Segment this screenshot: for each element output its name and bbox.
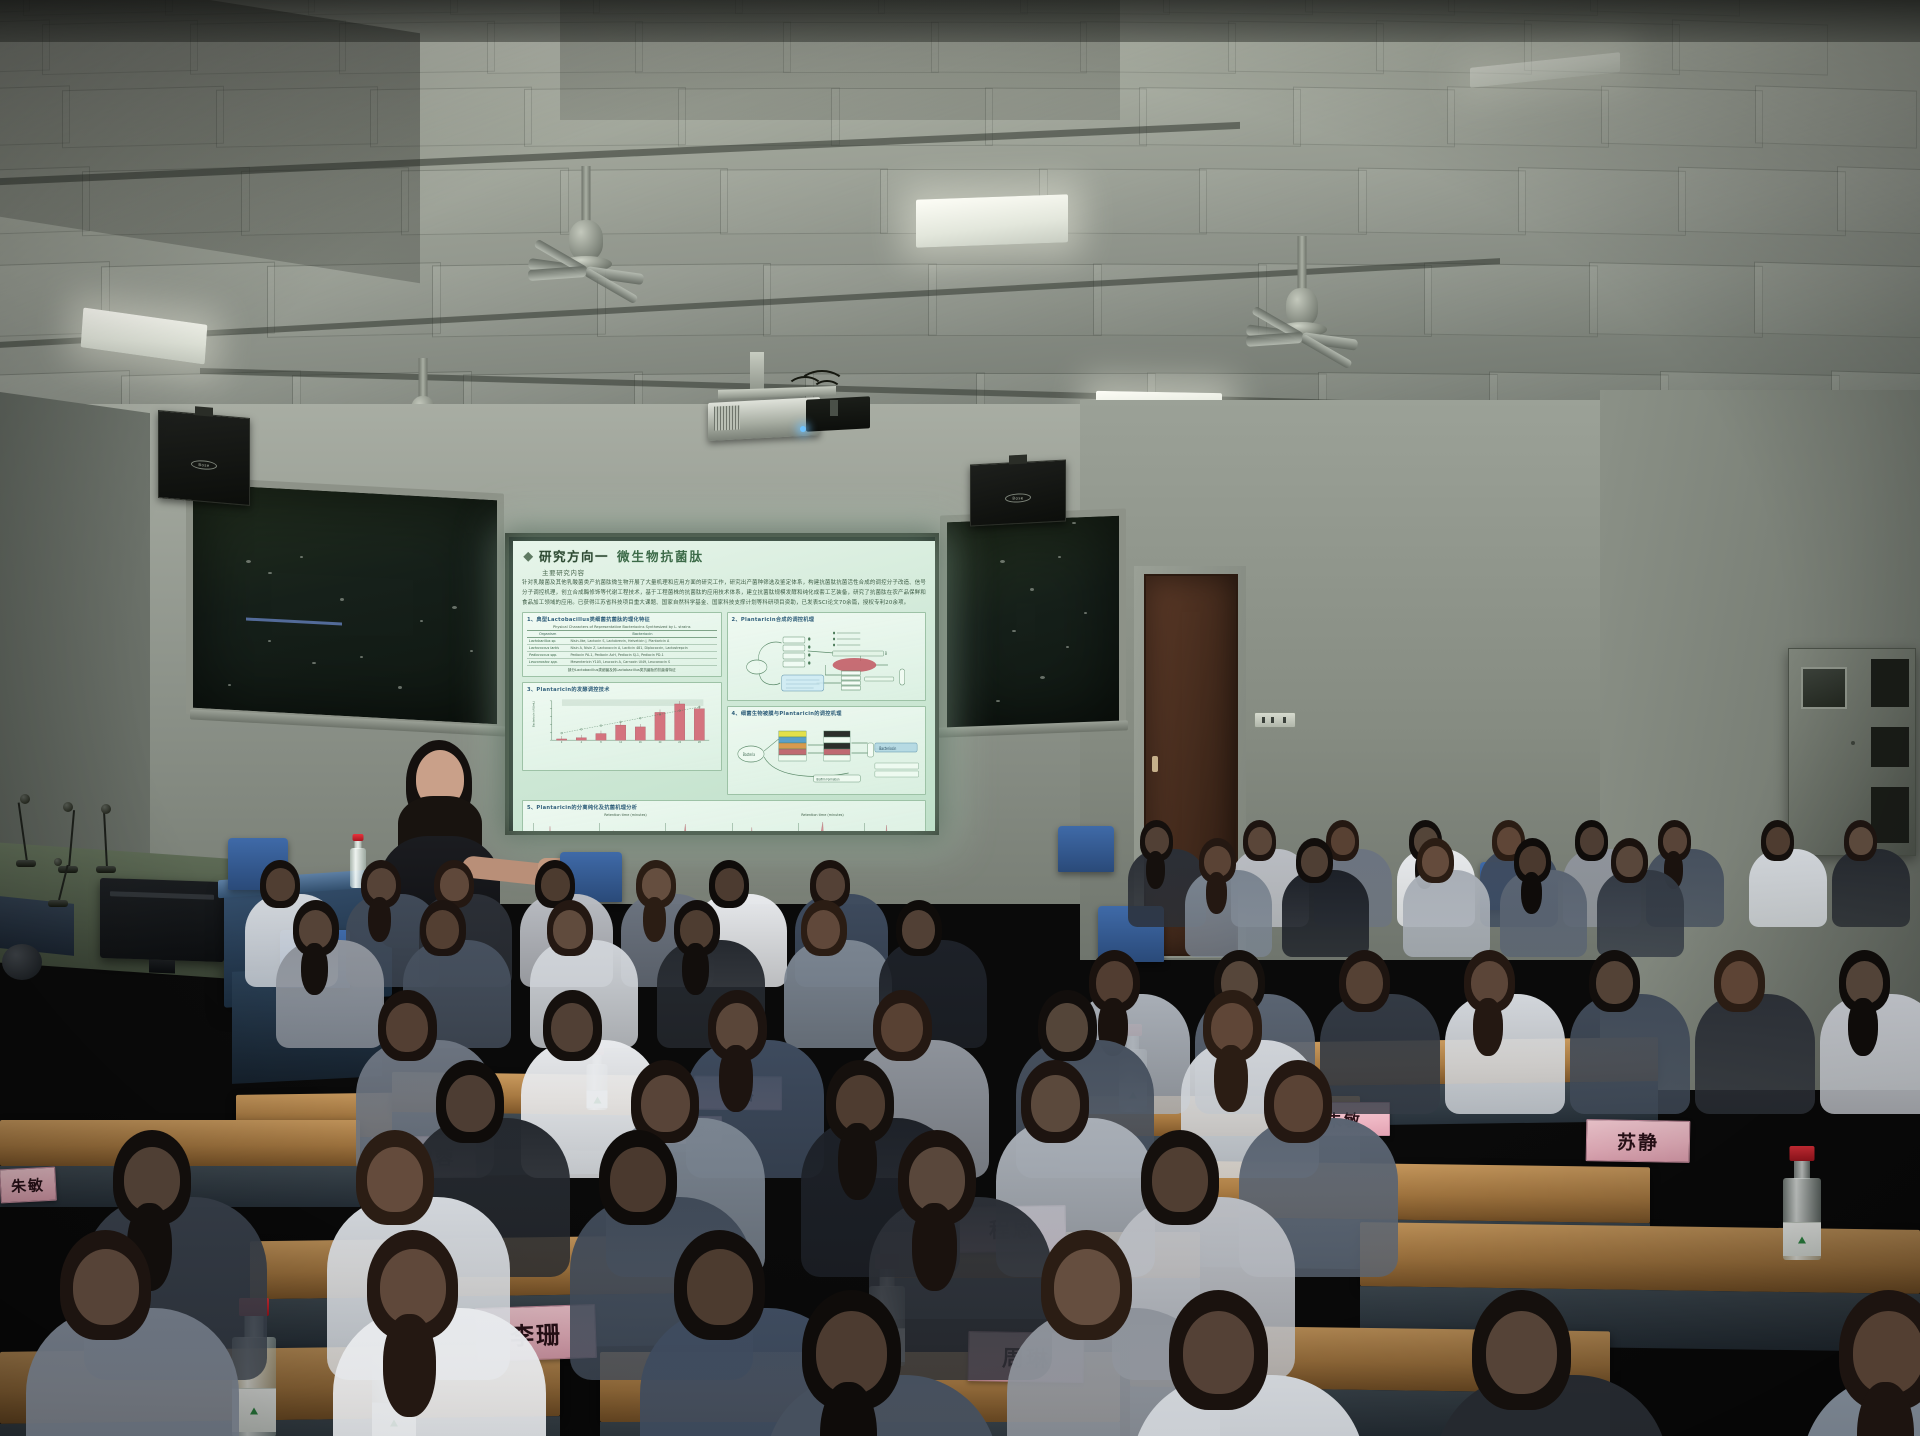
audience-head [1616, 846, 1643, 877]
audience-ponytail [1848, 998, 1878, 1056]
audience-torso [276, 940, 384, 1048]
student-desk [1360, 1222, 1920, 1294]
speaker-bracket-left [195, 406, 213, 417]
audience-head [1152, 1147, 1208, 1212]
audience-head [807, 910, 840, 949]
ceiling-tile [1589, 262, 1763, 338]
bar [675, 704, 685, 740]
bar [557, 739, 567, 740]
svg-text:28: 28 [698, 741, 701, 744]
chalk-mark [1084, 612, 1087, 614]
audience-head [440, 868, 469, 901]
chalk-mark [300, 556, 303, 558]
cell-organism: Leuconostoc spp. [527, 659, 568, 666]
chromatogram-3: mAU Time [659, 817, 722, 831]
audience-head [1422, 846, 1449, 877]
chalk-mark [1012, 630, 1016, 632]
audience-torso [1445, 994, 1565, 1114]
audience-member [60, 1230, 273, 1436]
ceiling-tile [928, 264, 1102, 336]
bar [576, 738, 586, 740]
blackboard-left [186, 476, 504, 731]
audience-ponytail [682, 943, 709, 995]
diamond-bullet-icon [523, 552, 533, 562]
audience-head [1046, 1003, 1088, 1052]
chromatogram-2: mAU Time [593, 817, 656, 831]
table-row: Lactococcus lactisNisin A, Nisin Z, Lact… [527, 645, 717, 652]
panel-1-number: 1 [527, 617, 531, 623]
chalk-mark [268, 640, 271, 642]
chalk-mark [1030, 588, 1034, 591]
audience-head [1183, 1311, 1254, 1394]
table-row: Leuconostoc spp.Mesentericin Y105, Leuco… [527, 659, 717, 666]
table-row: Pediococcus spp.Pediocin PA-1, Pediocin … [527, 652, 717, 659]
audience-head [1596, 961, 1633, 1004]
ceiling-tile [1447, 87, 1609, 149]
audience-head [367, 868, 396, 901]
audience-head [1486, 1311, 1557, 1394]
panel-1-caption: Physical Characters of Representative Ba… [527, 625, 717, 630]
audience-head [73, 1249, 139, 1325]
audience-head [386, 1003, 428, 1052]
monitor-stand [149, 960, 175, 974]
panel-2-title: Plantaricin合成的调控机理 [741, 617, 814, 623]
ceiling-light-2 [916, 194, 1068, 247]
svg-text:Bacteria: Bacteria [742, 753, 754, 758]
audience-head [816, 868, 845, 901]
fan-rod [582, 166, 591, 226]
svg-text:24: 24 [678, 741, 681, 744]
chromatogram-4: mAU Time [726, 817, 789, 831]
audience-torso [1570, 994, 1690, 1114]
ceiling-shadow-2 [560, 0, 1120, 120]
presentation-slide: 研究方向一 微生物抗菌肽 主要研究内容 针对乳酸菌及其他乳酸菌类产抗菌肽微生物开… [513, 541, 935, 831]
slide-panel-4: 4、细菌生物被膜与Plantaricin的调控机理 [727, 706, 927, 795]
table-header-row: Organism Bacteriocin [527, 631, 717, 638]
audience-head [1766, 827, 1790, 855]
chalk-mark [996, 700, 1000, 702]
audience-member [1839, 1290, 1920, 1436]
panel-2-heading: 2、Plantaricin合成的调控机理 [732, 616, 922, 623]
audience-torso [1695, 994, 1815, 1114]
chalk-mark [268, 572, 272, 574]
panel-1-note: 部分Lactobacillus类细菌及其Lactobacillus类抗菌肽的抗菌… [527, 668, 717, 673]
projection-screen-frame: 研究方向一 微生物抗菌肽 主要研究内容 针对乳酸菌及其他乳酸菌类产抗菌肽微生物开… [505, 533, 939, 835]
ceiling-tile [720, 168, 888, 234]
svg-text:20: 20 [659, 741, 662, 744]
ceiling-tile [1199, 168, 1367, 235]
projector-power-led [800, 426, 806, 432]
projector-cable-3 [812, 380, 842, 402]
audience-head [715, 868, 744, 901]
audience-head [902, 910, 935, 949]
audience-head [687, 1249, 753, 1325]
slide-panel-1: 1、典型Lactobacillus类细菌抗菌肽的理化特征 Physical Ch… [522, 612, 722, 677]
panel-3-heading: 3、Plantaricin的发酵调控技术 [527, 686, 717, 693]
th-organism: Organism [527, 631, 568, 638]
slide-paragraph: 针对乳酸菌及其他乳酸菌类产抗菌肽微生物开展了大量机理和应用方面的研究工作，研究出… [522, 578, 926, 608]
audience-member [1169, 1290, 1402, 1436]
microphone-4 [48, 856, 70, 912]
chalk-mark [360, 656, 363, 658]
audience-head [1346, 961, 1383, 1004]
audience-ponytail [1214, 1045, 1248, 1112]
bar [596, 734, 606, 741]
chalk-mark [398, 686, 402, 689]
ceiling-tile [1293, 87, 1455, 148]
fan-motor [1286, 288, 1318, 326]
panel-5-heading: 5、Plantaricin的分离纯化及抗菌机理分析 [527, 804, 921, 811]
svg-text:12: 12 [619, 741, 622, 744]
projector-clamp [830, 400, 838, 416]
cell-bacteriocin: Pediocin PA-1, Pediocin AcH, Pediocin SJ… [568, 652, 716, 659]
audience-torso [1500, 870, 1587, 957]
svg-text:Biofilm Formation: Biofilm Formation [816, 777, 839, 782]
bar [635, 727, 645, 740]
audience-member [1761, 820, 1839, 938]
ceiling-tile [1139, 87, 1301, 147]
speaker-brand-badge-left: Bose [191, 459, 217, 470]
audience-member [1839, 950, 1920, 1131]
panel-4-diagram: Bacteria [732, 719, 922, 791]
bar [694, 709, 704, 740]
microphone-1 [16, 790, 38, 870]
slide-title: 研究方向一 [539, 546, 609, 565]
chalk-mark [312, 662, 316, 664]
panel-3-title: Plantaricin的发酵调控技术 [536, 687, 609, 693]
chalk-mark [228, 684, 231, 686]
cabinet-window [1801, 667, 1847, 709]
chalk-mark [1040, 676, 1045, 679]
ceiling-fan-1 [496, 166, 676, 286]
audience-torso [1749, 849, 1827, 927]
audience-torso [1403, 870, 1490, 957]
slide-title-row: 研究方向一 微生物抗菌肽 [520, 546, 928, 565]
fan-rod [1298, 236, 1307, 294]
door-handle [1152, 756, 1158, 772]
chalk-mark [452, 606, 457, 609]
speaker-brand-badge-right: Bose [1005, 493, 1031, 503]
ceiling-tile [1755, 86, 1917, 149]
audience-torso [1832, 849, 1910, 927]
water-bottle-5 [1780, 1146, 1824, 1260]
panel-2-svg: B [732, 625, 922, 697]
cell-bacteriocin: Nisin-like, Lactocin S, Lactobrevin, Hel… [568, 638, 716, 645]
projector-vent [714, 405, 740, 430]
audience-member [1472, 1290, 1705, 1436]
cabinet-slot-2 [1871, 727, 1909, 767]
svg-text:B: B [885, 652, 887, 657]
slide-subtitle: 主要研究内容 [542, 567, 928, 577]
slide-title-secondary: 微生物抗菌肽 [617, 546, 704, 565]
panel-4-heading: 4、细菌生物被膜与Plantaricin的调控机理 [732, 710, 922, 717]
ceiling-tile [1678, 167, 1846, 237]
chalk-mark [246, 560, 251, 563]
panel-1-title: 典型Lactobacillus类细菌抗菌肽的理化特征 [536, 617, 650, 623]
lecture-hall-scene: 研究方向一 微生物抗菌肽 主要研究内容 针对乳酸菌及其他乳酸菌类产抗菌肽微生物开… [0, 0, 1920, 1436]
audience-head [1031, 1075, 1080, 1132]
ceiling-tile [1837, 166, 1920, 237]
audience-ponytail [383, 1314, 436, 1417]
chalk-mark [1066, 646, 1069, 648]
panel-4-number: 4 [732, 711, 736, 717]
panel-5-chromatogram-row: mAU Time mAU Time mAU Time [527, 817, 921, 831]
audience-head [266, 868, 295, 901]
panel-2-number: 2 [732, 617, 736, 623]
audience-ponytail [1206, 872, 1227, 914]
ceiling-tile [1518, 167, 1686, 236]
slide-column-right: 2、Plantaricin合成的调控机理 [727, 612, 927, 795]
monitor-screen-reflection [110, 891, 214, 900]
audience-head [1849, 827, 1873, 855]
table-row: Lactobacillus sp.Nisin-like, Lactocin S,… [527, 638, 717, 645]
audience-head [426, 910, 459, 949]
bar [655, 712, 665, 740]
audience-head [610, 1147, 666, 1212]
speaker-bracket-right [1009, 455, 1027, 465]
ceiling-tile [1754, 261, 1920, 338]
wall-speaker-left: Bose [158, 410, 250, 506]
projection-screen: 研究方向一 微生物抗菌肽 主要研究内容 针对乳酸菌及其他乳酸菌类产抗菌肽微生物开… [513, 541, 935, 831]
chalk-mark [340, 598, 344, 601]
panel-1-table: Physical Characters of Representative Ba… [527, 625, 717, 666]
audience-member [1844, 820, 1920, 938]
audience-head [551, 1003, 593, 1052]
audience-head [1301, 846, 1328, 877]
cell-organism: Lactococcus lactis [527, 645, 568, 652]
svg-text:4: 4 [581, 741, 583, 744]
cabinet-knob [1851, 741, 1855, 745]
panel-4-svg: Bacteria [732, 719, 922, 791]
cell-organism: Pediococcus spp. [527, 652, 568, 659]
audience-member [1589, 950, 1709, 1131]
projector-connector-plate [806, 396, 870, 431]
slide-panel-5: 5、Plantaricin的分离纯化及抗菌机理分析 Retention time… [522, 800, 926, 831]
wall-speaker-right: Bose [970, 459, 1066, 526]
audience-member [802, 1290, 1035, 1436]
audience-ponytail [1521, 872, 1542, 914]
cell-bacteriocin: Mesentericin Y105, Leucocin A, Carnocin … [568, 659, 716, 666]
audience-head [1054, 1249, 1120, 1325]
audience-head [553, 910, 586, 949]
audience-member [1464, 950, 1584, 1131]
name-card-9: 朱敏 [0, 1167, 57, 1204]
audience-head [1721, 961, 1758, 1004]
ceiling-tile [1358, 168, 1526, 236]
audience-ponytail [301, 943, 328, 995]
chalk-mark [1000, 560, 1005, 563]
chair [1058, 826, 1114, 872]
audience-ponytail [1473, 998, 1503, 1056]
audience-head [642, 868, 671, 901]
audience-head [367, 1147, 423, 1212]
audience-ponytail [912, 1203, 957, 1291]
bar [616, 725, 626, 740]
blackboard-right [940, 508, 1126, 735]
chalk-mark [470, 650, 473, 652]
audience-ponytail [838, 1123, 877, 1200]
audience-torso [1597, 870, 1684, 957]
cell-organism: Lactobacillus sp. [527, 638, 568, 645]
ceiling-tile [1601, 86, 1763, 148]
audience-head [541, 868, 570, 901]
slide-panel-2: 2、Plantaricin合成的调控机理 [727, 612, 927, 701]
audience-head [1274, 1075, 1323, 1132]
desk-speaker-cone [2, 944, 42, 980]
audience-member [367, 1230, 580, 1436]
microphone-3 [96, 800, 118, 876]
lectern-monitor [100, 878, 224, 962]
chalk-mark [1072, 522, 1076, 524]
cabinet-slot-1 [1871, 659, 1909, 707]
audience-torso [1185, 870, 1272, 957]
chalk-mark [1058, 556, 1061, 558]
chalk-mark [420, 620, 423, 622]
svg-text:Bacteriocin (AU/mL): Bacteriocin (AU/mL) [531, 701, 535, 727]
audience-head [446, 1075, 495, 1132]
ceiling-projector [688, 392, 868, 464]
svg-text:8: 8 [600, 741, 602, 744]
panel-4-title: 细菌生物被膜与Plantaricin的调控机理 [741, 711, 842, 717]
fan-motor [569, 220, 603, 260]
panel-2-diagram: B [732, 625, 922, 697]
audience-ponytail [1146, 851, 1165, 889]
svg-text:0: 0 [561, 741, 563, 744]
panel-1-heading: 1、典型Lactobacillus类细菌抗菌肽的理化特征 [527, 616, 717, 623]
wall-outlet [1254, 712, 1296, 728]
cell-bacteriocin: Nisin A, Nisin Z, Lactococcin A, Lactici… [568, 645, 716, 652]
ceiling-fan-2 [1214, 236, 1390, 354]
audience-head [881, 1003, 923, 1052]
audience-torso [1282, 870, 1369, 957]
chromatogram-6: mAU Time [858, 817, 921, 831]
audience-member [1714, 950, 1834, 1131]
th-bacteriocin: Bacteriocin [568, 631, 716, 638]
svg-text:Bacteriocin: Bacteriocin [879, 747, 896, 752]
svg-text:16: 16 [639, 741, 642, 744]
ceiling-tile [1424, 262, 1598, 337]
slide-panel-grid: 1、典型Lactobacillus类细菌抗菌肽的理化特征 Physical Ch… [520, 612, 928, 795]
audience-head [641, 1075, 690, 1132]
chromatogram-5: mAU Time [792, 817, 855, 831]
panel-1-table-body: Lactobacillus sp.Nisin-like, Lactocin S,… [527, 638, 717, 666]
panel-3-number: 3 [527, 687, 531, 693]
